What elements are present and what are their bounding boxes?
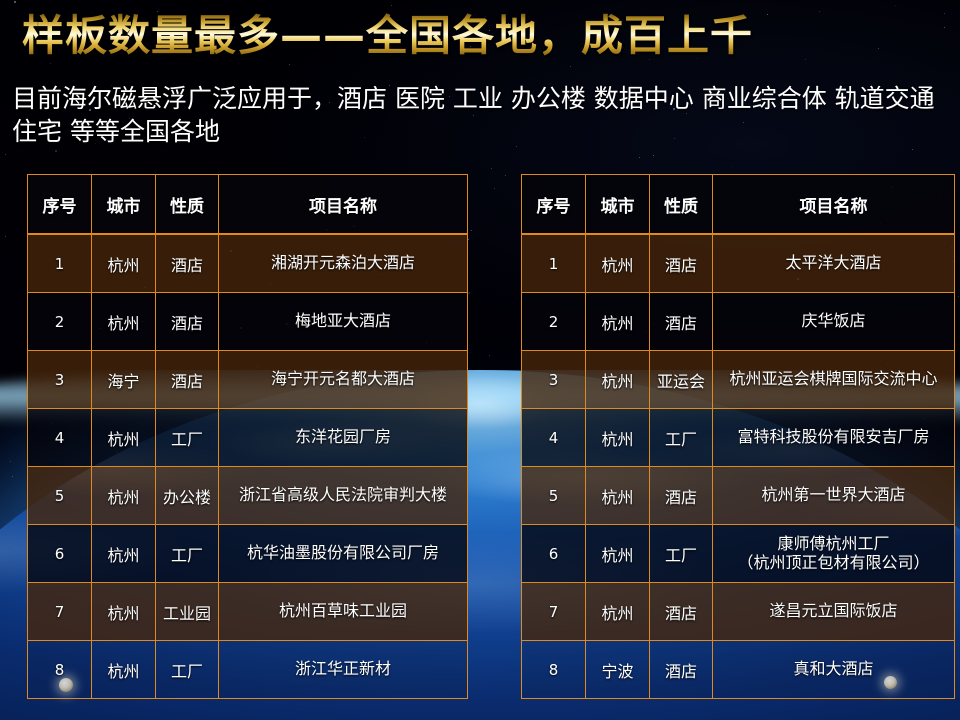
cell-num: 4 bbox=[522, 409, 586, 467]
table-row: 2杭州酒店梅地亚大酒店 bbox=[28, 293, 468, 351]
table-right-body: 1杭州酒店太平洋大酒店2杭州酒店庆华饭店3杭州亚运会杭州亚运会棋牌国际交流中心4… bbox=[522, 234, 955, 699]
cell-type: 工业园 bbox=[156, 583, 219, 641]
table-row: 7杭州酒店遂昌元立国际饭店 bbox=[522, 583, 955, 641]
cell-name: 湘湖开元森泊大酒店 bbox=[219, 234, 468, 293]
cell-type: 酒店 bbox=[650, 467, 713, 525]
cell-type: 亚运会 bbox=[650, 351, 713, 409]
table-row: 3海宁酒店海宁开元名都大酒店 bbox=[28, 351, 468, 409]
cell-num: 2 bbox=[28, 293, 92, 351]
cell-city: 宁波 bbox=[586, 641, 650, 699]
project-table-right: 序号城市性质项目名称 1杭州酒店太平洋大酒店2杭州酒店庆华饭店3杭州亚运会杭州亚… bbox=[521, 174, 955, 699]
table-row: 3杭州亚运会杭州亚运会棋牌国际交流中心 bbox=[522, 351, 955, 409]
cell-name: 杭州百草味工业园 bbox=[219, 583, 468, 641]
cell-city: 杭州 bbox=[586, 525, 650, 583]
cell-num: 7 bbox=[28, 583, 92, 641]
table-row: 6杭州工厂康师傅杭州工厂（杭州顶正包材有限公司） bbox=[522, 525, 955, 583]
cell-num: 1 bbox=[28, 234, 92, 293]
table-row: 8宁波酒店真和大酒店 bbox=[522, 641, 955, 699]
cell-type: 工厂 bbox=[156, 525, 219, 583]
cell-city: 杭州 bbox=[92, 293, 156, 351]
column-header-name: 项目名称 bbox=[713, 175, 955, 235]
cell-num: 5 bbox=[522, 467, 586, 525]
cell-city: 杭州 bbox=[586, 293, 650, 351]
cell-name: 康师傅杭州工厂（杭州顶正包材有限公司） bbox=[713, 525, 955, 583]
table-row: 8杭州工厂浙江华正新材 bbox=[28, 641, 468, 699]
cell-num: 4 bbox=[28, 409, 92, 467]
column-header-num: 序号 bbox=[522, 175, 586, 235]
cell-type: 酒店 bbox=[156, 234, 219, 293]
cell-name: 海宁开元名都大酒店 bbox=[219, 351, 468, 409]
table-header-row: 序号城市性质项目名称 bbox=[28, 175, 468, 235]
column-header-city: 城市 bbox=[92, 175, 156, 235]
column-header-num: 序号 bbox=[28, 175, 92, 235]
cell-city: 海宁 bbox=[92, 351, 156, 409]
cell-name: 太平洋大酒店 bbox=[713, 234, 955, 293]
cell-type: 酒店 bbox=[650, 583, 713, 641]
cell-city: 杭州 bbox=[92, 467, 156, 525]
cell-type: 酒店 bbox=[650, 293, 713, 351]
cell-num: 3 bbox=[522, 351, 586, 409]
cell-type: 办公楼 bbox=[156, 467, 219, 525]
cell-num: 8 bbox=[522, 641, 586, 699]
slide-title: 样板数量最多——全国各地，成百上千 bbox=[22, 12, 753, 59]
cell-city: 杭州 bbox=[92, 641, 156, 699]
column-header-name: 项目名称 bbox=[219, 175, 468, 235]
cell-name: 浙江省高级人民法院审判大楼 bbox=[219, 467, 468, 525]
slide-canvas: 样板数量最多——全国各地，成百上千 目前海尔磁悬浮广泛应用于，酒店 医院 工业 … bbox=[0, 0, 960, 720]
cell-name: 杭州亚运会棋牌国际交流中心 bbox=[713, 351, 955, 409]
column-header-type: 性质 bbox=[156, 175, 219, 235]
cell-city: 杭州 bbox=[586, 409, 650, 467]
cell-name: 庆华饭店 bbox=[713, 293, 955, 351]
table-row: 5杭州办公楼浙江省高级人民法院审判大楼 bbox=[28, 467, 468, 525]
table-right-header: 序号城市性质项目名称 bbox=[522, 175, 955, 235]
cell-type: 工厂 bbox=[156, 641, 219, 699]
cell-num: 2 bbox=[522, 293, 586, 351]
cell-city: 杭州 bbox=[92, 525, 156, 583]
table-left-body: 1杭州酒店湘湖开元森泊大酒店2杭州酒店梅地亚大酒店3海宁酒店海宁开元名都大酒店4… bbox=[28, 234, 468, 699]
cell-name: 富特科技股份有限安吉厂房 bbox=[713, 409, 955, 467]
cell-type: 酒店 bbox=[156, 293, 219, 351]
cell-type: 工厂 bbox=[156, 409, 219, 467]
cell-city: 杭州 bbox=[92, 234, 156, 293]
cell-type: 酒店 bbox=[650, 641, 713, 699]
table-header-row: 序号城市性质项目名称 bbox=[522, 175, 955, 235]
column-header-city: 城市 bbox=[586, 175, 650, 235]
cell-num: 3 bbox=[28, 351, 92, 409]
cell-type: 工厂 bbox=[650, 409, 713, 467]
cell-name: 真和大酒店 bbox=[713, 641, 955, 699]
cell-type: 工厂 bbox=[650, 525, 713, 583]
table-left-header: 序号城市性质项目名称 bbox=[28, 175, 468, 235]
table-row: 7杭州工业园杭州百草味工业园 bbox=[28, 583, 468, 641]
cell-num: 8 bbox=[28, 641, 92, 699]
cell-num: 6 bbox=[28, 525, 92, 583]
cell-num: 5 bbox=[28, 467, 92, 525]
cell-city: 杭州 bbox=[586, 351, 650, 409]
cell-type: 酒店 bbox=[156, 351, 219, 409]
table-row: 2杭州酒店庆华饭店 bbox=[522, 293, 955, 351]
table-row: 5杭州酒店杭州第一世界大酒店 bbox=[522, 467, 955, 525]
cell-city: 杭州 bbox=[586, 583, 650, 641]
table-row: 6杭州工厂杭华油墨股份有限公司厂房 bbox=[28, 525, 468, 583]
cell-city: 杭州 bbox=[92, 409, 156, 467]
project-table-left: 序号城市性质项目名称 1杭州酒店湘湖开元森泊大酒店2杭州酒店梅地亚大酒店3海宁酒… bbox=[27, 174, 468, 699]
cell-name: 浙江华正新材 bbox=[219, 641, 468, 699]
cell-city: 杭州 bbox=[586, 234, 650, 293]
cell-name: 杭州第一世界大酒店 bbox=[713, 467, 955, 525]
slide-subtitle: 目前海尔磁悬浮广泛应用于，酒店 医院 工业 办公楼 数据中心 商业综合体 轨道交… bbox=[12, 82, 948, 148]
table-row: 4杭州工厂富特科技股份有限安吉厂房 bbox=[522, 409, 955, 467]
cell-name: 梅地亚大酒店 bbox=[219, 293, 468, 351]
cell-city: 杭州 bbox=[92, 583, 156, 641]
table-row: 4杭州工厂东洋花园厂房 bbox=[28, 409, 468, 467]
cell-num: 7 bbox=[522, 583, 586, 641]
table-row: 1杭州酒店湘湖开元森泊大酒店 bbox=[28, 234, 468, 293]
cell-city: 杭州 bbox=[586, 467, 650, 525]
column-header-type: 性质 bbox=[650, 175, 713, 235]
cell-num: 6 bbox=[522, 525, 586, 583]
cell-type: 酒店 bbox=[650, 234, 713, 293]
cell-name: 杭华油墨股份有限公司厂房 bbox=[219, 525, 468, 583]
cell-num: 1 bbox=[522, 234, 586, 293]
cell-name: 东洋花园厂房 bbox=[219, 409, 468, 467]
table-row: 1杭州酒店太平洋大酒店 bbox=[522, 234, 955, 293]
cell-name: 遂昌元立国际饭店 bbox=[713, 583, 955, 641]
